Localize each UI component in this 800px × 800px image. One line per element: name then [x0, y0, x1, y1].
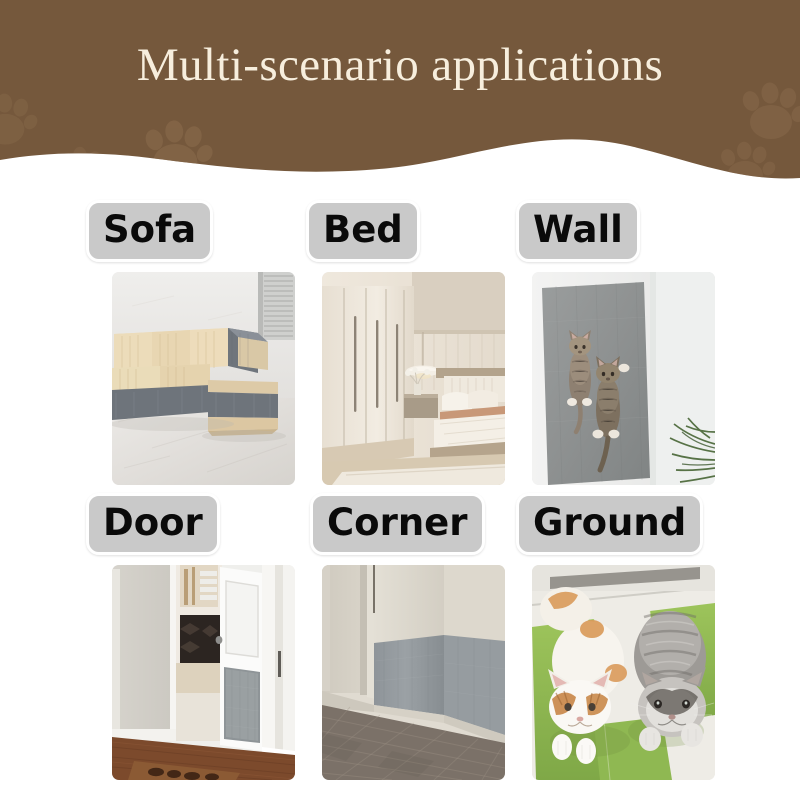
scenario-card-ground[interactable]: Ground — [532, 565, 715, 780]
photo-corner — [322, 565, 505, 780]
label-badge-door[interactable]: Door — [86, 493, 220, 555]
photo-sofa — [112, 272, 295, 485]
scenario-card-wall[interactable]: Wall — [532, 272, 715, 485]
header-wave-shape — [0, 0, 800, 200]
photo-bed — [322, 272, 505, 485]
label-badge-sofa[interactable]: Sofa — [86, 200, 213, 262]
scenario-card-door[interactable]: Door — [112, 565, 295, 780]
scenario-grid: Sofa — [0, 186, 800, 800]
product-infographic-poster: Multi-scenario applications — [0, 0, 800, 800]
scenario-card-corner[interactable]: Corner — [322, 565, 505, 780]
page-title: Multi-scenario applications — [0, 38, 800, 92]
scenario-card-sofa[interactable]: Sofa — [112, 272, 295, 485]
label-badge-ground[interactable]: Ground — [516, 493, 703, 555]
photo-door — [112, 565, 295, 780]
photo-ground — [532, 565, 715, 780]
label-badge-bed[interactable]: Bed — [306, 200, 420, 262]
photo-wall — [532, 272, 715, 485]
header-banner: Multi-scenario applications — [0, 0, 800, 200]
scenario-card-bed[interactable]: Bed — [322, 272, 505, 485]
label-badge-corner[interactable]: Corner — [310, 493, 485, 555]
label-badge-wall[interactable]: Wall — [516, 200, 640, 262]
